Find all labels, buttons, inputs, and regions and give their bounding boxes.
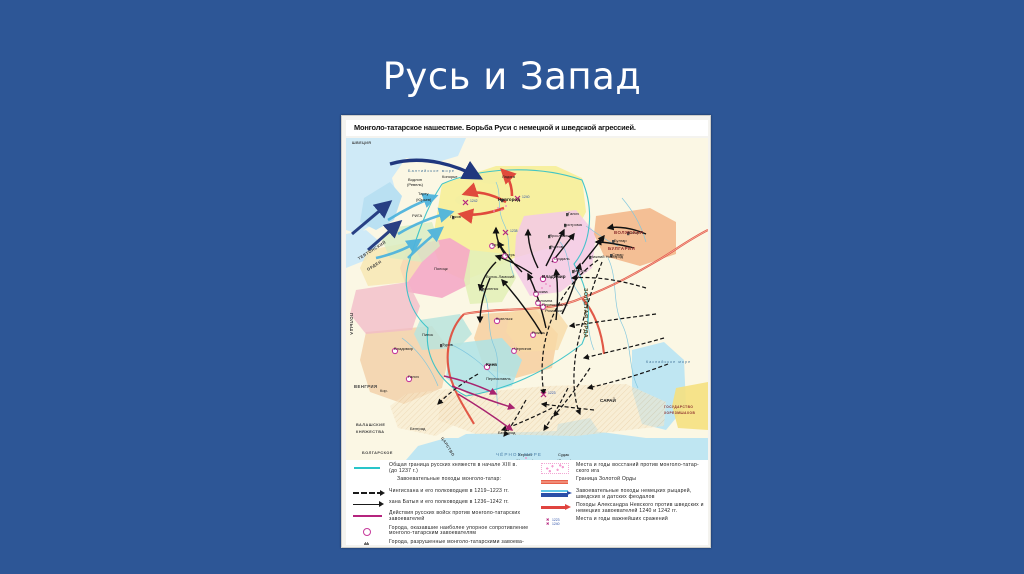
map-city-label: (Ревель) — [407, 182, 424, 187]
map-country-label: ВЕНГРИЯ — [354, 384, 378, 389]
presentation-slide: Русь и Запад Монголо-татарское нашествие… — [0, 0, 1024, 574]
map-city-label: Чернигов — [514, 346, 531, 351]
map-city-label: Новгород — [498, 197, 520, 202]
map-city-label: Кострома — [564, 222, 583, 227]
map-city-label: Владимир — [394, 346, 414, 351]
svg-text:1223: 1223 — [548, 391, 556, 395]
legend-symbol — [538, 463, 572, 472]
map-city-label: Сувар — [612, 252, 624, 257]
legend-item: Граница Золотой Орды — [538, 477, 708, 486]
map-country-label: ВАЛАШСКИЕ — [356, 423, 385, 427]
map-country-label: ХОРЕЗМШАХОВ — [664, 411, 695, 415]
legend-symbol — [351, 526, 385, 535]
legend-item: Завоевательные походы немецких рыцарей,ш… — [538, 489, 708, 501]
map-city-label: Ярославль — [549, 233, 569, 238]
legend-symbol — [351, 511, 385, 520]
legend-symbol-uprising — [541, 463, 569, 474]
legend-item-label: Походы Александра Невского против шведск… — [576, 503, 704, 515]
legend-symbol: ✖✖12231240 — [538, 517, 572, 526]
legend-item: Города, разрушенные монголо-татарскими з… — [351, 540, 541, 545]
map-city-label: Переяславль — [486, 376, 511, 381]
map-country-label: БУЛГАРИЯ — [608, 246, 635, 251]
legend-symbol — [351, 477, 385, 486]
legend-column-left: Общая граница русских княжеств в начале … — [351, 463, 541, 545]
map-city-label: Ладога — [502, 174, 516, 179]
map-city-label: Суздаль — [554, 256, 570, 261]
legend-item: Походы Александра Невского против шведск… — [538, 503, 708, 515]
legend-item-label-line2: ского ига — [576, 468, 599, 474]
legend-symbol-german-campaign — [541, 490, 568, 497]
map-city-label: Торжок — [491, 242, 504, 247]
legend-item-label-line2: монголо-татарским завоевателям — [389, 530, 476, 536]
legend-symbol — [351, 489, 385, 498]
map-city-label: Кор. — [380, 388, 388, 393]
map-city-label: Рязань — [532, 330, 545, 335]
map-city-label: Москва — [534, 289, 548, 294]
legend-item-label: Завоевательные походы монголо-татар: — [389, 477, 501, 483]
legend-item-label: Города, оказавшие наиболее упорное сопро… — [389, 526, 528, 538]
legend-item-label: Граница Золотой Орды — [576, 477, 636, 483]
map-country-label: БОЛГАРСКОЕ — [362, 451, 393, 455]
legend-symbol-rus-border — [354, 467, 380, 469]
map-city-label: Киев — [486, 362, 497, 367]
map-city-label: Волок-Ламский — [486, 274, 514, 279]
map-city-label: Полоцк — [434, 266, 448, 271]
legend-symbol — [538, 489, 572, 498]
map-city-label: Тарту — [418, 191, 429, 196]
map-city-label: Владимир — [542, 274, 566, 279]
legend-column-right: Места и годы восстаний против монголо-та… — [538, 463, 708, 528]
legend-item: Места и годы восстаний против монголо-та… — [538, 463, 708, 475]
map-city-label: Переяславль- — [542, 302, 569, 307]
page-title: Русь и Запад — [0, 55, 1024, 98]
legend-item-label: Города, разрушенные монголо-татарскими з… — [389, 540, 524, 545]
map-city-label: САРАЙ — [600, 396, 616, 403]
legend-symbol-horde-border — [541, 480, 568, 484]
legend-item: хана Батыя и его полководцев в 1236–1242… — [351, 500, 541, 509]
map-country-label: ПОЛЬША — [349, 313, 354, 335]
legend-item-label: Действия русских войск против монголо-та… — [389, 511, 520, 523]
map-caption: Монголо-татарское нашествие. Борьба Руси… — [346, 120, 708, 136]
legend-item-label-line2: шведских и датских феодалов — [576, 494, 655, 500]
historical-map: 1240 1242 1238 1223 ЛадогаНовгородПсковТ… — [346, 138, 708, 460]
map-city-label: Копорье — [442, 174, 458, 179]
map-city-label: Судак — [558, 452, 569, 457]
legend-symbol — [351, 463, 385, 472]
legend-item-label: Завоевательные походы немецких рыцарей,ш… — [576, 489, 692, 501]
map-city-label: Муром — [574, 268, 587, 273]
legend-symbol — [351, 540, 385, 545]
map-city-label: (Юрьев) — [416, 197, 432, 202]
legend-item-label: Места и годы восстаний против монголо-та… — [576, 463, 699, 475]
map-city-label: Псков — [450, 214, 461, 219]
map-city-label: Козельск — [496, 316, 513, 321]
map-country-label: КНЯЖЕСТВА — [356, 430, 385, 434]
map-city-label: Туров — [442, 342, 453, 347]
legend-item-label: Общая граница русских княжеств в начале … — [389, 463, 517, 475]
map-city-label: Белград — [410, 426, 426, 431]
legend-item-label-line2: (до 1237 г.) — [389, 468, 418, 474]
legend-item: ✖✖12231240Места и годы важнейших сражени… — [538, 517, 708, 526]
map-city-label: Рязанский — [545, 308, 564, 313]
map-sea-label: Каспийское море — [646, 360, 691, 364]
legend-symbol-resisting-city — [363, 528, 371, 536]
legend-symbol — [351, 500, 385, 509]
map-sea-label: Балтийское море — [408, 169, 455, 173]
map-city-label: Галич — [568, 211, 579, 216]
legend-symbol-destroyed-city — [364, 541, 369, 545]
map-legend: Общая граница русских княжеств в начале … — [346, 460, 708, 545]
map-country-label: ВОЛЖСКАЯ — [614, 230, 643, 235]
map-city-label: Тверь — [504, 252, 515, 257]
legend-symbol-russian-forces — [353, 515, 382, 517]
legend-item: Города, оказавшие наиболее упорное сопро… — [351, 526, 541, 538]
map-sea-label: ЧЁРНОЕ МОРЕ — [496, 451, 542, 457]
legend-item-label-line2: завоевателей — [389, 516, 424, 522]
legend-symbol-nevsky-campaign — [541, 506, 566, 510]
legend-symbol-batu-arrow — [353, 504, 380, 506]
map-city-label: Галич — [408, 374, 419, 379]
legend-item-label: Чингисхана и его полководцев в 1219–1223… — [389, 489, 509, 495]
legend-symbol-genghis-arrow — [353, 492, 381, 494]
legend-symbol — [538, 477, 572, 486]
svg-text:1242: 1242 — [470, 199, 478, 203]
map-city-label: РИГА — [412, 213, 422, 218]
svg-text:1238: 1238 — [510, 229, 518, 233]
map-country-label: ГОСУДАРСТВО — [664, 405, 693, 409]
legend-item-label-line2: немецких завоевателей 1240 и 1242 гг. — [576, 508, 677, 514]
map-country-label: ЗОЛОТАЯ ОРДА — [582, 288, 588, 338]
legend-item: Общая граница русских княжеств в начале … — [351, 463, 541, 475]
svg-text:1240: 1240 — [522, 195, 530, 199]
map-city-label: Ростов — [550, 244, 563, 249]
legend-item: Чингисхана и его полководцев в 1219–1223… — [351, 489, 541, 498]
map-country-label: ШВЕЦИЯ — [352, 141, 371, 145]
legend-item: Завоевательные походы монголо-татар: — [351, 477, 541, 486]
map-city-label: Булгар — [614, 238, 627, 243]
map-image-panel: Монголо-татарское нашествие. Борьба Руси… — [341, 115, 711, 548]
legend-symbol — [538, 503, 572, 512]
legend-item-label: Места и годы важнейших сражений — [576, 517, 668, 523]
map-city-label: Пинск — [422, 332, 433, 337]
map-city-label: Белгород — [498, 430, 516, 435]
legend-symbol-battle: ✖✖12231240 — [546, 518, 570, 527]
map-city-label: Смоленск — [480, 286, 499, 291]
legend-item-label: хана Батыя и его полководцев в 1236–1242… — [389, 500, 509, 506]
legend-item: Действия русских войск против монголо-та… — [351, 511, 541, 523]
